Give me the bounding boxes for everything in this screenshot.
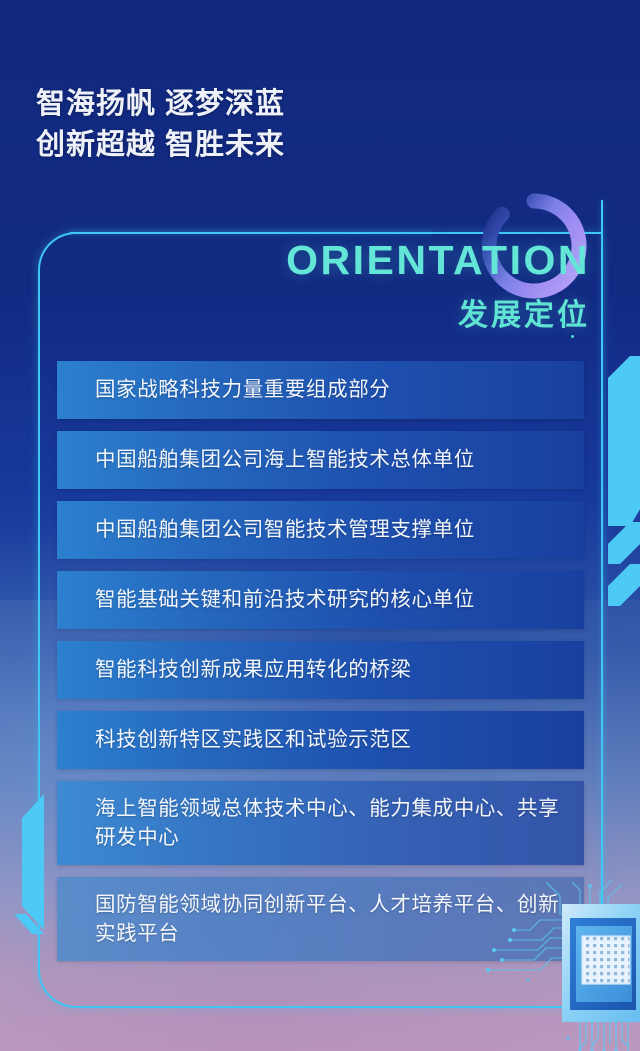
section-title-english: ORIENTATION (286, 240, 590, 281)
list-item-label: 科技创新特区实践区和试验示范区 (95, 725, 426, 754)
accent-dot-2 (571, 335, 574, 338)
list-item-label: 中国船舶集团公司智能技术管理支撑单位 (95, 515, 489, 544)
cpu-chip-icon (480, 880, 640, 1051)
right-slash-bar-icon (608, 356, 640, 610)
poster-root: 智海扬帆 逐梦深蓝 创新超越 智胜未来 ORIENTATION 发展定位 (0, 0, 640, 1051)
list-item[interactable]: 科技创新特区实践区和试验示范区 (57, 711, 584, 769)
list-item-label: 智能科技创新成果应用转化的桥梁 (95, 655, 426, 684)
list-item[interactable]: 中国船舶集团公司海上智能技术总体单位 (57, 431, 584, 489)
list-item[interactable]: 中国船舶集团公司智能技术管理支撑单位 (57, 501, 584, 559)
headline-line-1: 智海扬帆 逐梦深蓝 (36, 84, 285, 125)
list-item[interactable]: 国家战略科技力量重要组成部分 (57, 361, 584, 419)
card-frame-top-segment (70, 232, 432, 234)
list-item[interactable]: 智能基础关键和前沿技术研究的核心单位 (57, 571, 584, 629)
section-title-chinese: 发展定位 (458, 301, 590, 331)
headline-line-2: 创新超越 智胜未来 (36, 125, 285, 166)
list-item-label: 海上智能领域总体技术中心、能力集成中心、共享研发中心 (95, 794, 584, 852)
list-item[interactable]: 智能科技创新成果应用转化的桥梁 (57, 641, 584, 699)
headline: 智海扬帆 逐梦深蓝 创新超越 智胜未来 (36, 84, 285, 166)
list-item-label: 国家战略科技力量重要组成部分 (95, 375, 404, 404)
list-item-label: 智能基础关键和前沿技术研究的核心单位 (95, 585, 489, 614)
left-slash-bar-icon (0, 778, 44, 934)
list-item-label: 中国船舶集团公司海上智能技术总体单位 (95, 445, 489, 474)
list-item[interactable]: 海上智能领域总体技术中心、能力集成中心、共享研发中心 (57, 781, 584, 865)
